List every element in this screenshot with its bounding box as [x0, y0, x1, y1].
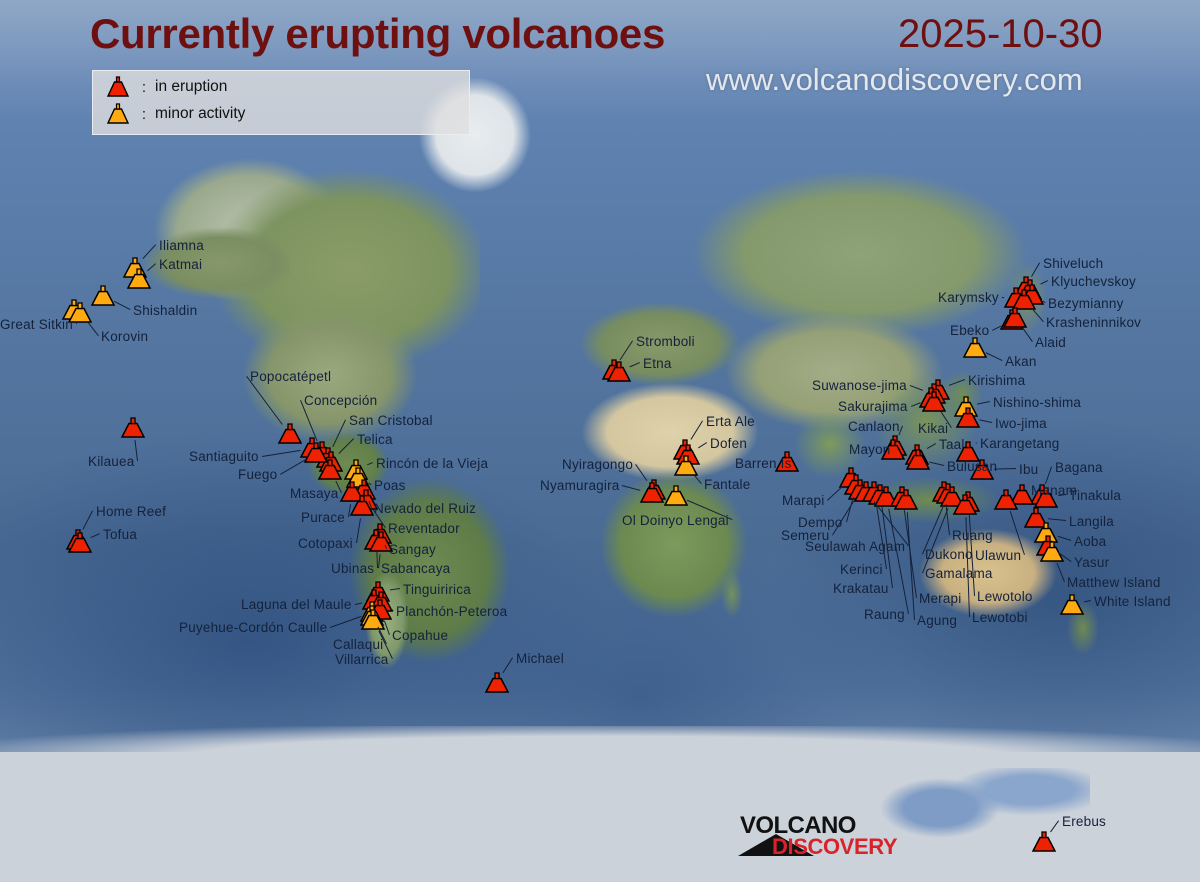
red-volcano-icon — [606, 361, 632, 383]
orange-volcano-icon — [962, 337, 988, 359]
red-volcano-icon — [639, 482, 665, 504]
volcano-label[interactable]: Planchón-Peteroa — [396, 605, 507, 619]
red-volcano-icon — [893, 489, 919, 511]
volcano-label[interactable]: White Island — [1094, 595, 1171, 609]
volcano-label[interactable]: Karangetang — [980, 437, 1060, 451]
map-date: 2025-10-30 — [898, 12, 1103, 57]
volcano-label[interactable]: Home Reef — [96, 505, 166, 519]
volcano-label[interactable]: Sakurajima — [838, 400, 908, 414]
volcano-label[interactable]: Iliamna — [159, 239, 204, 253]
volcano-label[interactable]: Villarrica — [335, 653, 389, 667]
volcano-label[interactable]: Puyehue-Cordón Caulle — [179, 621, 327, 635]
volcano-label[interactable]: Sangay — [389, 543, 436, 557]
volcano-label[interactable]: Kirishima — [968, 374, 1025, 388]
volcano-label[interactable]: Popocatépetl — [250, 370, 331, 384]
red-volcano-icon — [120, 417, 146, 439]
volcano-label[interactable]: Akan — [1005, 355, 1037, 369]
volcano-label[interactable]: Tinguiririca — [403, 583, 471, 597]
volcano-label[interactable]: Erebus — [1062, 815, 1106, 829]
volcano-label[interactable]: Karymsky — [938, 291, 999, 305]
volcano-label[interactable]: Ebeko — [950, 324, 989, 338]
volcano-label[interactable]: Nishino-shima — [993, 396, 1081, 410]
volcano-label[interactable]: Iwo-jima — [995, 417, 1047, 431]
volcano-label[interactable]: Lewotobi — [972, 611, 1028, 625]
legend-colon-1: : — [133, 79, 155, 96]
volcano-label[interactable]: Copahue — [392, 629, 448, 643]
orange-volcano-icon — [673, 455, 699, 477]
volcano-label[interactable]: Nyiragongo — [562, 458, 633, 472]
volcanodiscovery-logo: VOLCANO DISCOVERY — [738, 812, 898, 860]
volcano-label[interactable]: Nyamuragira — [540, 479, 619, 493]
volcano-label[interactable]: Fantale — [704, 478, 750, 492]
volcano-label[interactable]: Rincón de la Vieja — [376, 457, 488, 471]
volcano-label[interactable]: Ubinas — [331, 562, 374, 576]
volcano-label[interactable]: Dofen — [710, 437, 747, 451]
volcano-label[interactable]: Erta Ale — [706, 415, 755, 429]
red-volcano-icon — [993, 489, 1019, 511]
volcano-label[interactable]: Bulusan — [947, 460, 997, 474]
orange-volcano-icon — [90, 285, 116, 307]
volcano-label[interactable]: Krasheninnikov — [1046, 316, 1141, 330]
red-volcano-icon — [952, 494, 978, 516]
red-volcano-icon — [484, 672, 510, 694]
volcano-label[interactable]: Krakatau — [833, 582, 889, 596]
volcano-label[interactable]: Langila — [1069, 515, 1114, 529]
volcano-label[interactable]: Yasur — [1074, 556, 1109, 570]
volcano-label[interactable]: Canlaon — [848, 420, 900, 434]
volcano-label[interactable]: Nevado del Ruiz — [374, 502, 476, 516]
orange-volcano-icon — [663, 485, 689, 507]
volcano-label[interactable]: Seulawah Agam — [805, 540, 905, 554]
volcano-label[interactable]: Shiveluch — [1043, 257, 1103, 271]
volcano-label[interactable]: Kilauea — [88, 455, 134, 469]
red-volcano-icon — [905, 449, 931, 471]
volcano-label[interactable]: Marapi — [782, 494, 824, 508]
legend-item-in-eruption: : in eruption — [103, 74, 227, 100]
logo-text-discovery: DISCOVERY — [772, 834, 897, 860]
volcano-label[interactable]: Bagana — [1055, 461, 1103, 475]
orange-volcano-icon — [103, 102, 133, 126]
volcano-label[interactable]: Shishaldin — [133, 304, 197, 318]
landmass-madagascar — [712, 560, 752, 630]
volcano-label[interactable]: Ol Doinyo Lengai — [622, 514, 729, 528]
volcano-label[interactable]: Laguna del Maule — [241, 598, 352, 612]
orange-volcano-icon — [1039, 541, 1065, 563]
volcano-label[interactable]: Bezymianny — [1048, 297, 1124, 311]
volcano-label[interactable]: Reventador — [388, 522, 460, 536]
volcano-label[interactable]: Dukono — [925, 548, 973, 562]
volcano-label[interactable]: Merapi — [919, 592, 961, 606]
red-volcano-icon — [103, 75, 133, 99]
volcano-label[interactable]: Ruang — [952, 529, 993, 543]
volcano-label[interactable]: Fuego — [238, 468, 277, 482]
ross-sea-shelf — [880, 768, 1090, 854]
volcano-label[interactable]: Suwanose-jima — [812, 379, 907, 393]
volcano-label[interactable]: Cotopaxi — [298, 537, 353, 551]
volcano-label[interactable]: Ibu — [1019, 463, 1038, 477]
volcano-label[interactable]: Tinakula — [1069, 489, 1121, 503]
leader-line — [1002, 297, 1004, 298]
volcano-label[interactable]: Tofua — [103, 528, 137, 542]
map-canvas: Currently erupting volcanoes 2025-10-30 … — [0, 0, 1200, 882]
volcano-label[interactable]: Stromboli — [636, 335, 695, 349]
legend-label-in-eruption: in eruption — [155, 78, 227, 96]
volcano-label[interactable]: Kikai — [918, 422, 948, 436]
volcano-label[interactable]: Alaid — [1035, 336, 1066, 350]
volcano-label[interactable]: Etna — [643, 357, 672, 371]
volcano-label[interactable]: Gamalama — [925, 567, 993, 581]
red-volcano-icon — [955, 407, 981, 429]
volcano-label[interactable]: Barren Is — [735, 457, 792, 471]
volcano-label[interactable]: Raung — [864, 608, 905, 622]
legend-label-minor-activity: minor activity — [155, 105, 245, 123]
red-volcano-icon — [1031, 831, 1057, 853]
red-volcano-icon — [1002, 307, 1028, 329]
volcano-label[interactable]: Great Sitkin — [0, 318, 73, 332]
volcano-label[interactable]: San Cristobal — [349, 414, 433, 428]
legend-panel: : in eruption : minor activity — [92, 70, 470, 135]
volcano-label[interactable]: Aoba — [1074, 535, 1106, 549]
orange-volcano-icon — [1059, 594, 1085, 616]
volcano-label[interactable]: Michael — [516, 652, 564, 666]
volcano-label[interactable]: Mayon — [849, 443, 891, 457]
orange-volcano-icon — [126, 268, 152, 290]
leader-line — [76, 322, 77, 324]
orange-volcano-icon — [360, 609, 386, 631]
red-volcano-icon — [921, 391, 947, 413]
red-volcano-icon — [67, 532, 93, 554]
volcano-label[interactable]: Masaya — [290, 487, 338, 501]
volcano-label[interactable]: Klyuchevskoy — [1051, 275, 1136, 289]
legend-item-minor-activity: : minor activity — [103, 101, 245, 127]
volcano-label[interactable]: Callaqui — [333, 638, 383, 652]
website-watermark: www.volcanodiscovery.com — [706, 62, 1083, 98]
volcano-label[interactable]: Matthew Island — [1067, 576, 1161, 590]
legend-colon-2: : — [133, 106, 155, 123]
volcano-label[interactable]: Concepción — [304, 394, 377, 408]
volcano-label[interactable]: Purace — [301, 511, 345, 525]
volcano-label[interactable]: Poas — [374, 479, 406, 493]
volcano-label[interactable]: Kerinci — [840, 563, 883, 577]
volcano-label[interactable]: Agung — [917, 614, 957, 628]
volcano-label[interactable]: Korovin — [101, 330, 148, 344]
volcano-label[interactable]: Taal — [939, 438, 965, 452]
red-volcano-icon — [317, 459, 343, 481]
volcano-label[interactable]: Santiaguito — [189, 450, 259, 464]
page-title: Currently erupting volcanoes — [90, 10, 665, 58]
volcano-label[interactable]: Sabancaya — [381, 562, 450, 576]
volcano-label[interactable]: Ulawun — [975, 549, 1021, 563]
volcano-label[interactable]: Telica — [357, 433, 393, 447]
volcano-label[interactable]: Lewotolo — [977, 590, 1033, 604]
volcano-label[interactable]: Katmai — [159, 258, 202, 272]
